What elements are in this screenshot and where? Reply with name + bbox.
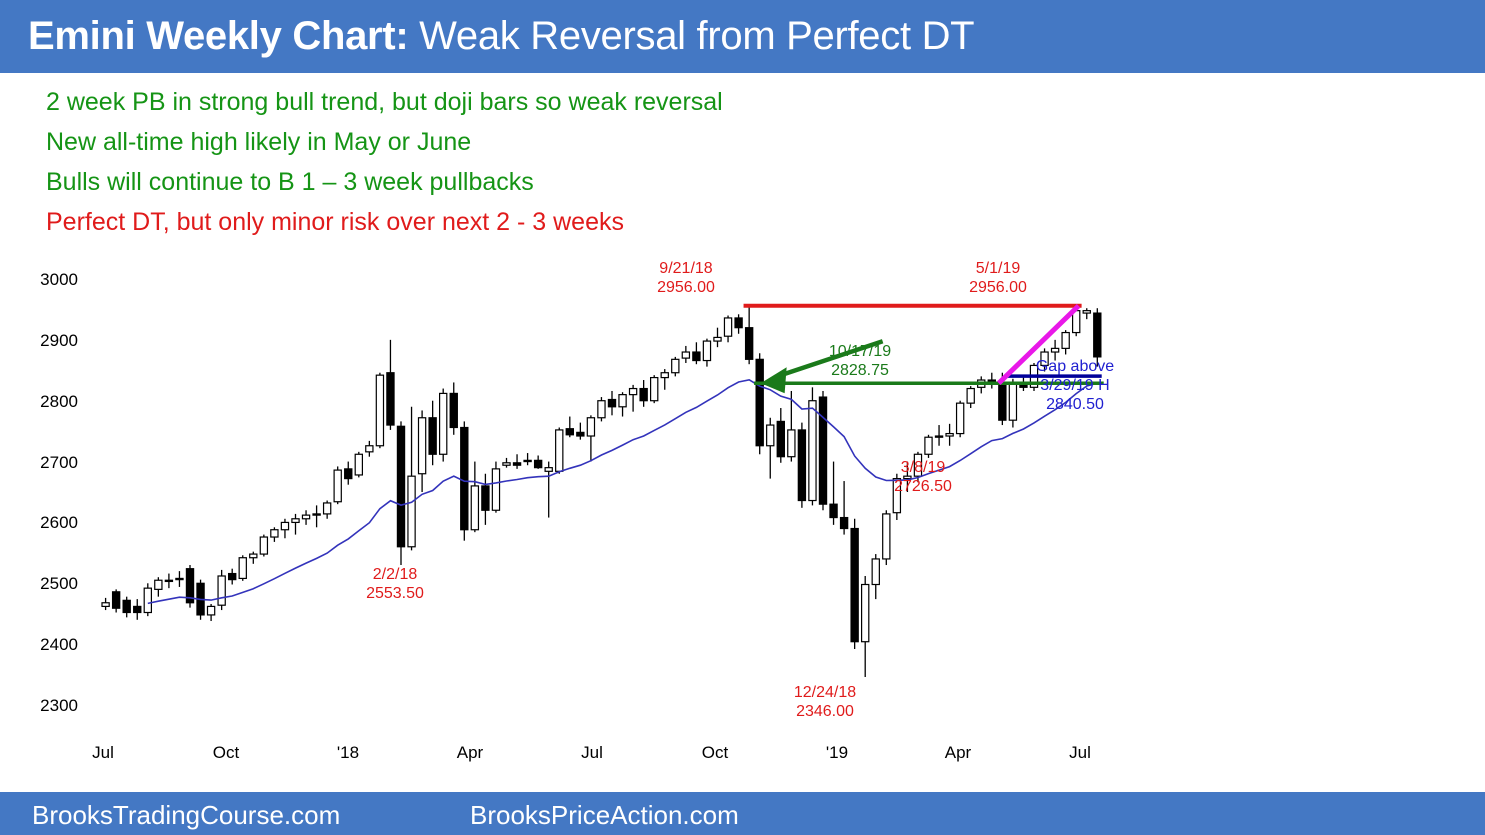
annotation-date: 9/21/18	[616, 259, 756, 278]
footer-link-brookspriceaction[interactable]: BrooksPriceAction.com	[470, 800, 739, 831]
annotation-price: 2346.00	[765, 702, 885, 721]
commentary-block: 2 week PB in strong bull trend, but doji…	[46, 82, 1246, 242]
annotation-price: 2828.75	[790, 361, 930, 380]
x-axis-tick: Apr	[430, 743, 510, 763]
annotation-date: 10/17/19	[790, 342, 930, 361]
annotation-date: 5/1/19	[928, 259, 1068, 278]
x-axis-tick: Jul	[1040, 743, 1120, 763]
x-axis-tick: Jul	[552, 743, 632, 763]
footer-link-brookstradingcourse[interactable]: BrooksTradingCourse.com	[32, 800, 340, 831]
annotation-date: 2/2/18	[340, 565, 450, 584]
commentary-line-2: New all-time high likely in May or June	[46, 122, 1246, 162]
y-axis-tick: 2400	[14, 635, 78, 655]
annotation-gap-price: 2840.50	[1010, 395, 1140, 414]
y-axis-tick: 2800	[14, 392, 78, 412]
y-axis-tick: 2700	[14, 453, 78, 473]
annotation-low-3-8-19: 3/8/19 2726.50	[868, 458, 978, 496]
commentary-line-3: Bulls will continue to B 1 – 3 week pull…	[46, 162, 1246, 202]
commentary-line-4: Perfect DT, but only minor risk over nex…	[46, 202, 1246, 242]
annotation-price: 2726.50	[868, 477, 978, 496]
page-title: Emini Weekly Chart: Weak Reversal from P…	[28, 14, 974, 59]
annotation-price: 2956.00	[616, 278, 756, 297]
annotation-low-2-2-18: 2/2/18 2553.50	[340, 565, 450, 603]
annotation-price: 2553.50	[340, 584, 450, 603]
annotation-high-5-1-19: 5/1/19 2956.00	[928, 259, 1068, 297]
annotation-date: 12/24/18	[765, 683, 885, 702]
annotation-low-12-24-18: 12/24/18 2346.00	[765, 683, 885, 721]
y-axis-tick: 2300	[14, 696, 78, 716]
page-title-bold: Emini Weekly Chart:	[28, 14, 408, 58]
header-bar: Emini Weekly Chart: Weak Reversal from P…	[0, 0, 1485, 73]
annotation-high-9-21-18: 9/21/18 2956.00	[616, 259, 756, 297]
footer-bar: BrooksTradingCourse.com BrooksPriceActio…	[0, 792, 1485, 835]
y-axis-tick: 3000	[14, 270, 78, 290]
annotation-price: 2956.00	[928, 278, 1068, 297]
chart-area: 30002900280027002600250024002300 JulOct'…	[0, 255, 1485, 785]
annotation-arrow-head	[761, 367, 787, 393]
annotation-date: 3/8/19	[868, 458, 978, 477]
page-title-light: Weak Reversal from Perfect DT	[408, 14, 974, 58]
candlestick-plot	[84, 255, 1314, 715]
x-axis-tick: Oct	[675, 743, 755, 763]
y-axis-tick: 2900	[14, 331, 78, 351]
x-axis-tick: '18	[308, 743, 388, 763]
x-axis-tick: Oct	[186, 743, 266, 763]
x-axis-tick: Apr	[918, 743, 998, 763]
annotation-gap-label: Gap above	[1010, 357, 1140, 376]
candlestick-svg	[84, 255, 1314, 725]
annotation-gap-date: 3/29/19 H	[1010, 376, 1140, 395]
commentary-line-1: 2 week PB in strong bull trend, but doji…	[46, 82, 1246, 122]
x-axis-tick: '19	[797, 743, 877, 763]
x-axis-tick: Jul	[63, 743, 143, 763]
annotation-ema-10-17-19: 10/17/19 2828.75	[790, 342, 930, 380]
y-axis-tick: 2500	[14, 574, 78, 594]
y-axis-tick: 2600	[14, 513, 78, 533]
annotation-gap-above: Gap above 3/29/19 H 2840.50	[1010, 357, 1140, 414]
